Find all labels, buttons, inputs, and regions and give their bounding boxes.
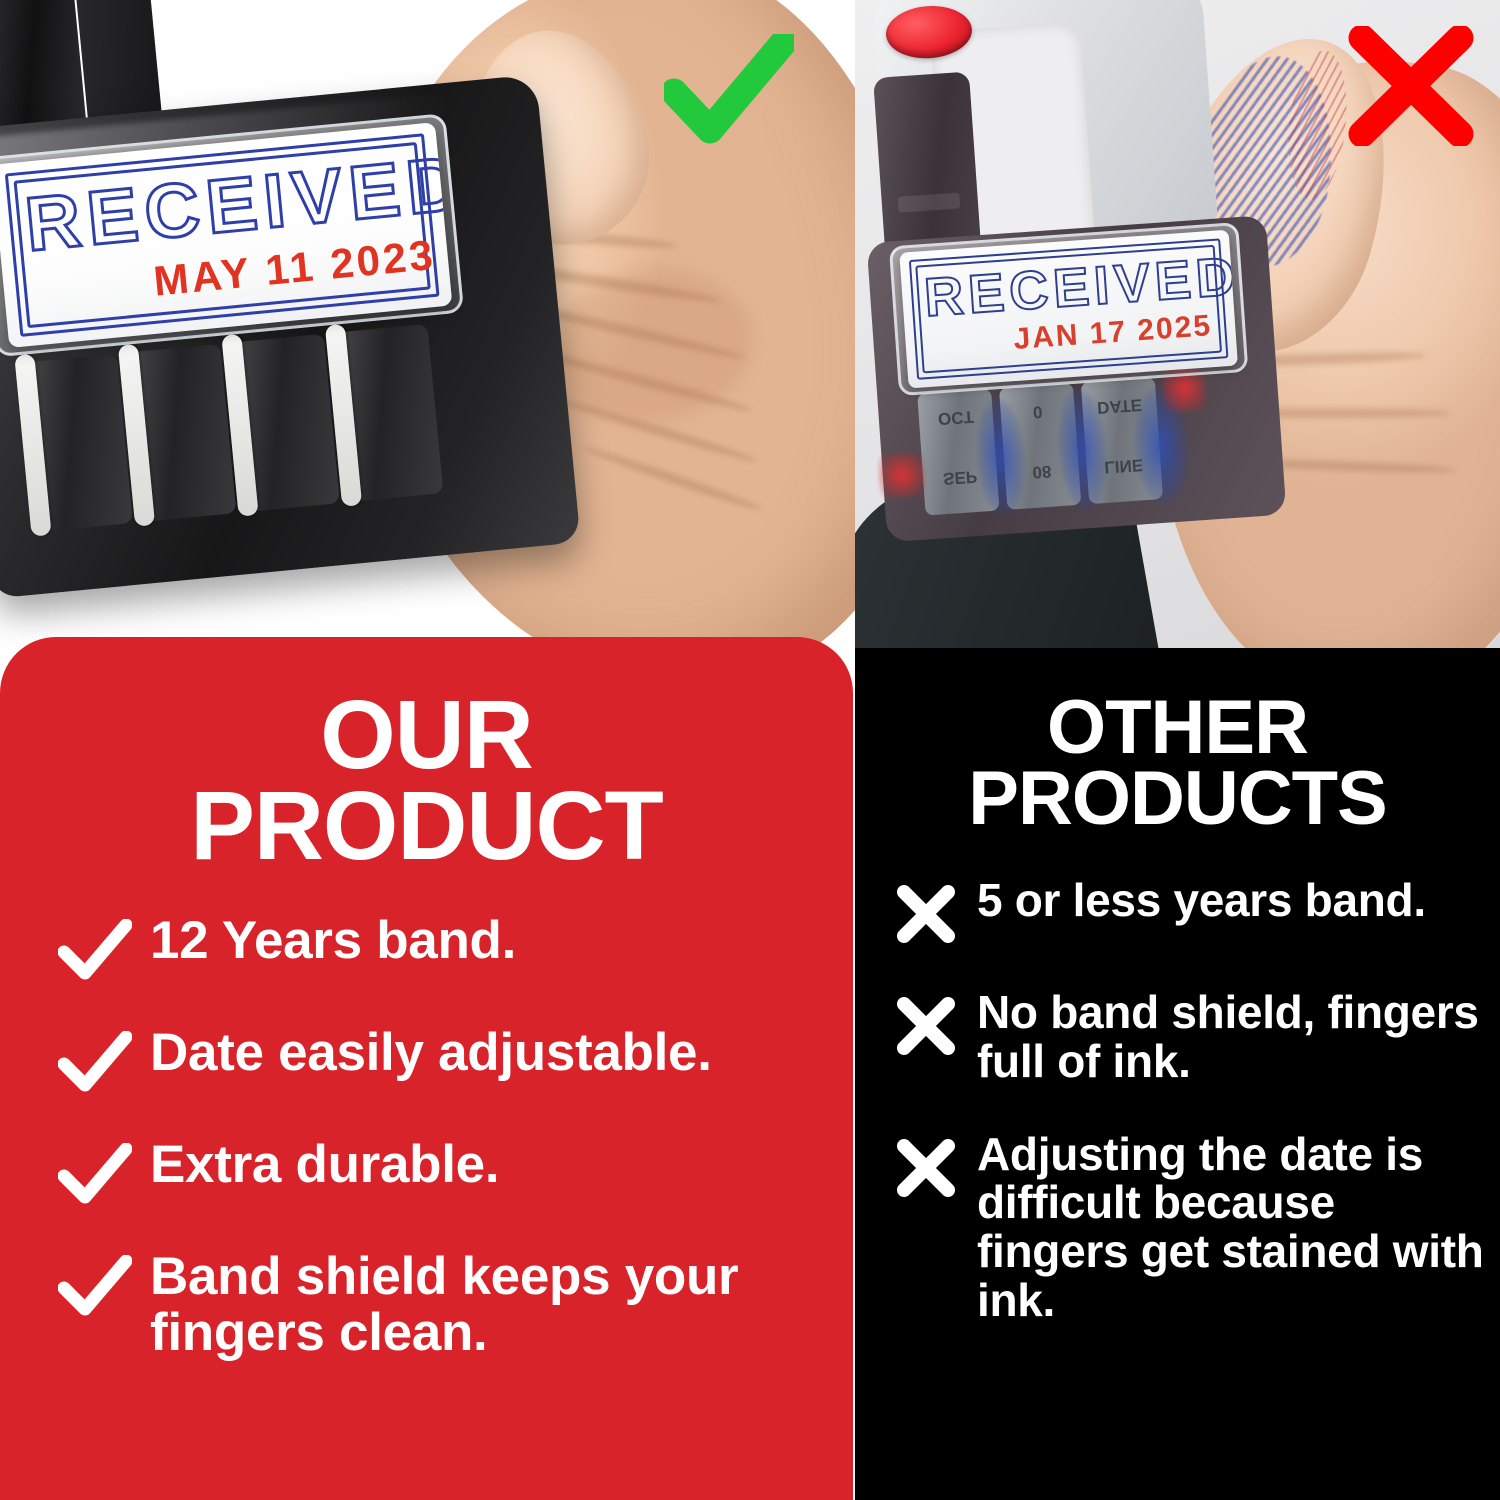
x-icon bbox=[895, 996, 957, 1056]
list-item: Extra durable. bbox=[58, 1137, 848, 1205]
bullet-text: Adjusting the date is difficult because … bbox=[977, 1130, 1495, 1325]
bullet-text: Date easily adjustable. bbox=[150, 1025, 712, 1081]
x-icon bbox=[895, 1138, 957, 1198]
bullet-text: Band shield keeps your fingers clean. bbox=[150, 1249, 830, 1361]
list-item: Band shield keeps your fingers clean. bbox=[58, 1249, 848, 1361]
check-icon bbox=[58, 1255, 132, 1317]
list-item: 12 Years band. bbox=[58, 913, 848, 981]
red-cross-icon bbox=[1348, 26, 1474, 146]
self-inking-dater-ours: RECEIVED MAY 11 2023 bbox=[0, 31, 625, 650]
our-product-panel: OUR PRODUCT 12 Years band. Date easily a… bbox=[0, 637, 853, 1500]
self-inking-dater-theirs: OCT SEP 0 08 DATE LINE bbox=[855, 0, 1329, 652]
other-products-bullet-list: 5 or less years band. No band shield, fi… bbox=[895, 876, 1495, 1369]
comparison-infographic: RECEIVED MAY 11 2023 bbox=[0, 0, 1500, 1500]
bullet-text: 12 Years band. bbox=[150, 913, 516, 969]
other-products-panel: OTHER PRODUCTS 5 or less years band. No … bbox=[855, 648, 1500, 1500]
title-line-2: PRODUCTS bbox=[855, 763, 1500, 834]
check-icon bbox=[58, 1031, 132, 1093]
list-item: 5 or less years band. bbox=[895, 876, 1495, 944]
bullet-text: 5 or less years band. bbox=[977, 876, 1426, 925]
stamp-impression-label-right: RECEIVED JAN 17 2025 bbox=[899, 230, 1238, 389]
date-band-wheels-exposed: OCT SEP 0 08 DATE LINE bbox=[917, 373, 1225, 524]
bullet-text: Extra durable. bbox=[150, 1137, 499, 1193]
check-icon bbox=[58, 1143, 132, 1205]
title-line-2: PRODUCT bbox=[0, 780, 853, 871]
our-product-title: OUR PRODUCT bbox=[0, 689, 853, 871]
list-item: Date easily adjustable. bbox=[58, 1025, 848, 1093]
list-item: No band shield, fingers full of ink. bbox=[895, 988, 1495, 1086]
bullet-text: No band shield, fingers full of ink. bbox=[977, 988, 1495, 1086]
check-icon bbox=[58, 919, 132, 981]
list-item: Adjusting the date is difficult because … bbox=[895, 1130, 1495, 1325]
our-product-bullet-list: 12 Years band. Date easily adjustable. E… bbox=[58, 913, 848, 1405]
other-products-title: OTHER PRODUCTS bbox=[855, 692, 1500, 835]
photo-row: RECEIVED MAY 11 2023 bbox=[0, 0, 1500, 652]
x-icon bbox=[895, 884, 957, 944]
green-check-icon bbox=[664, 34, 794, 144]
